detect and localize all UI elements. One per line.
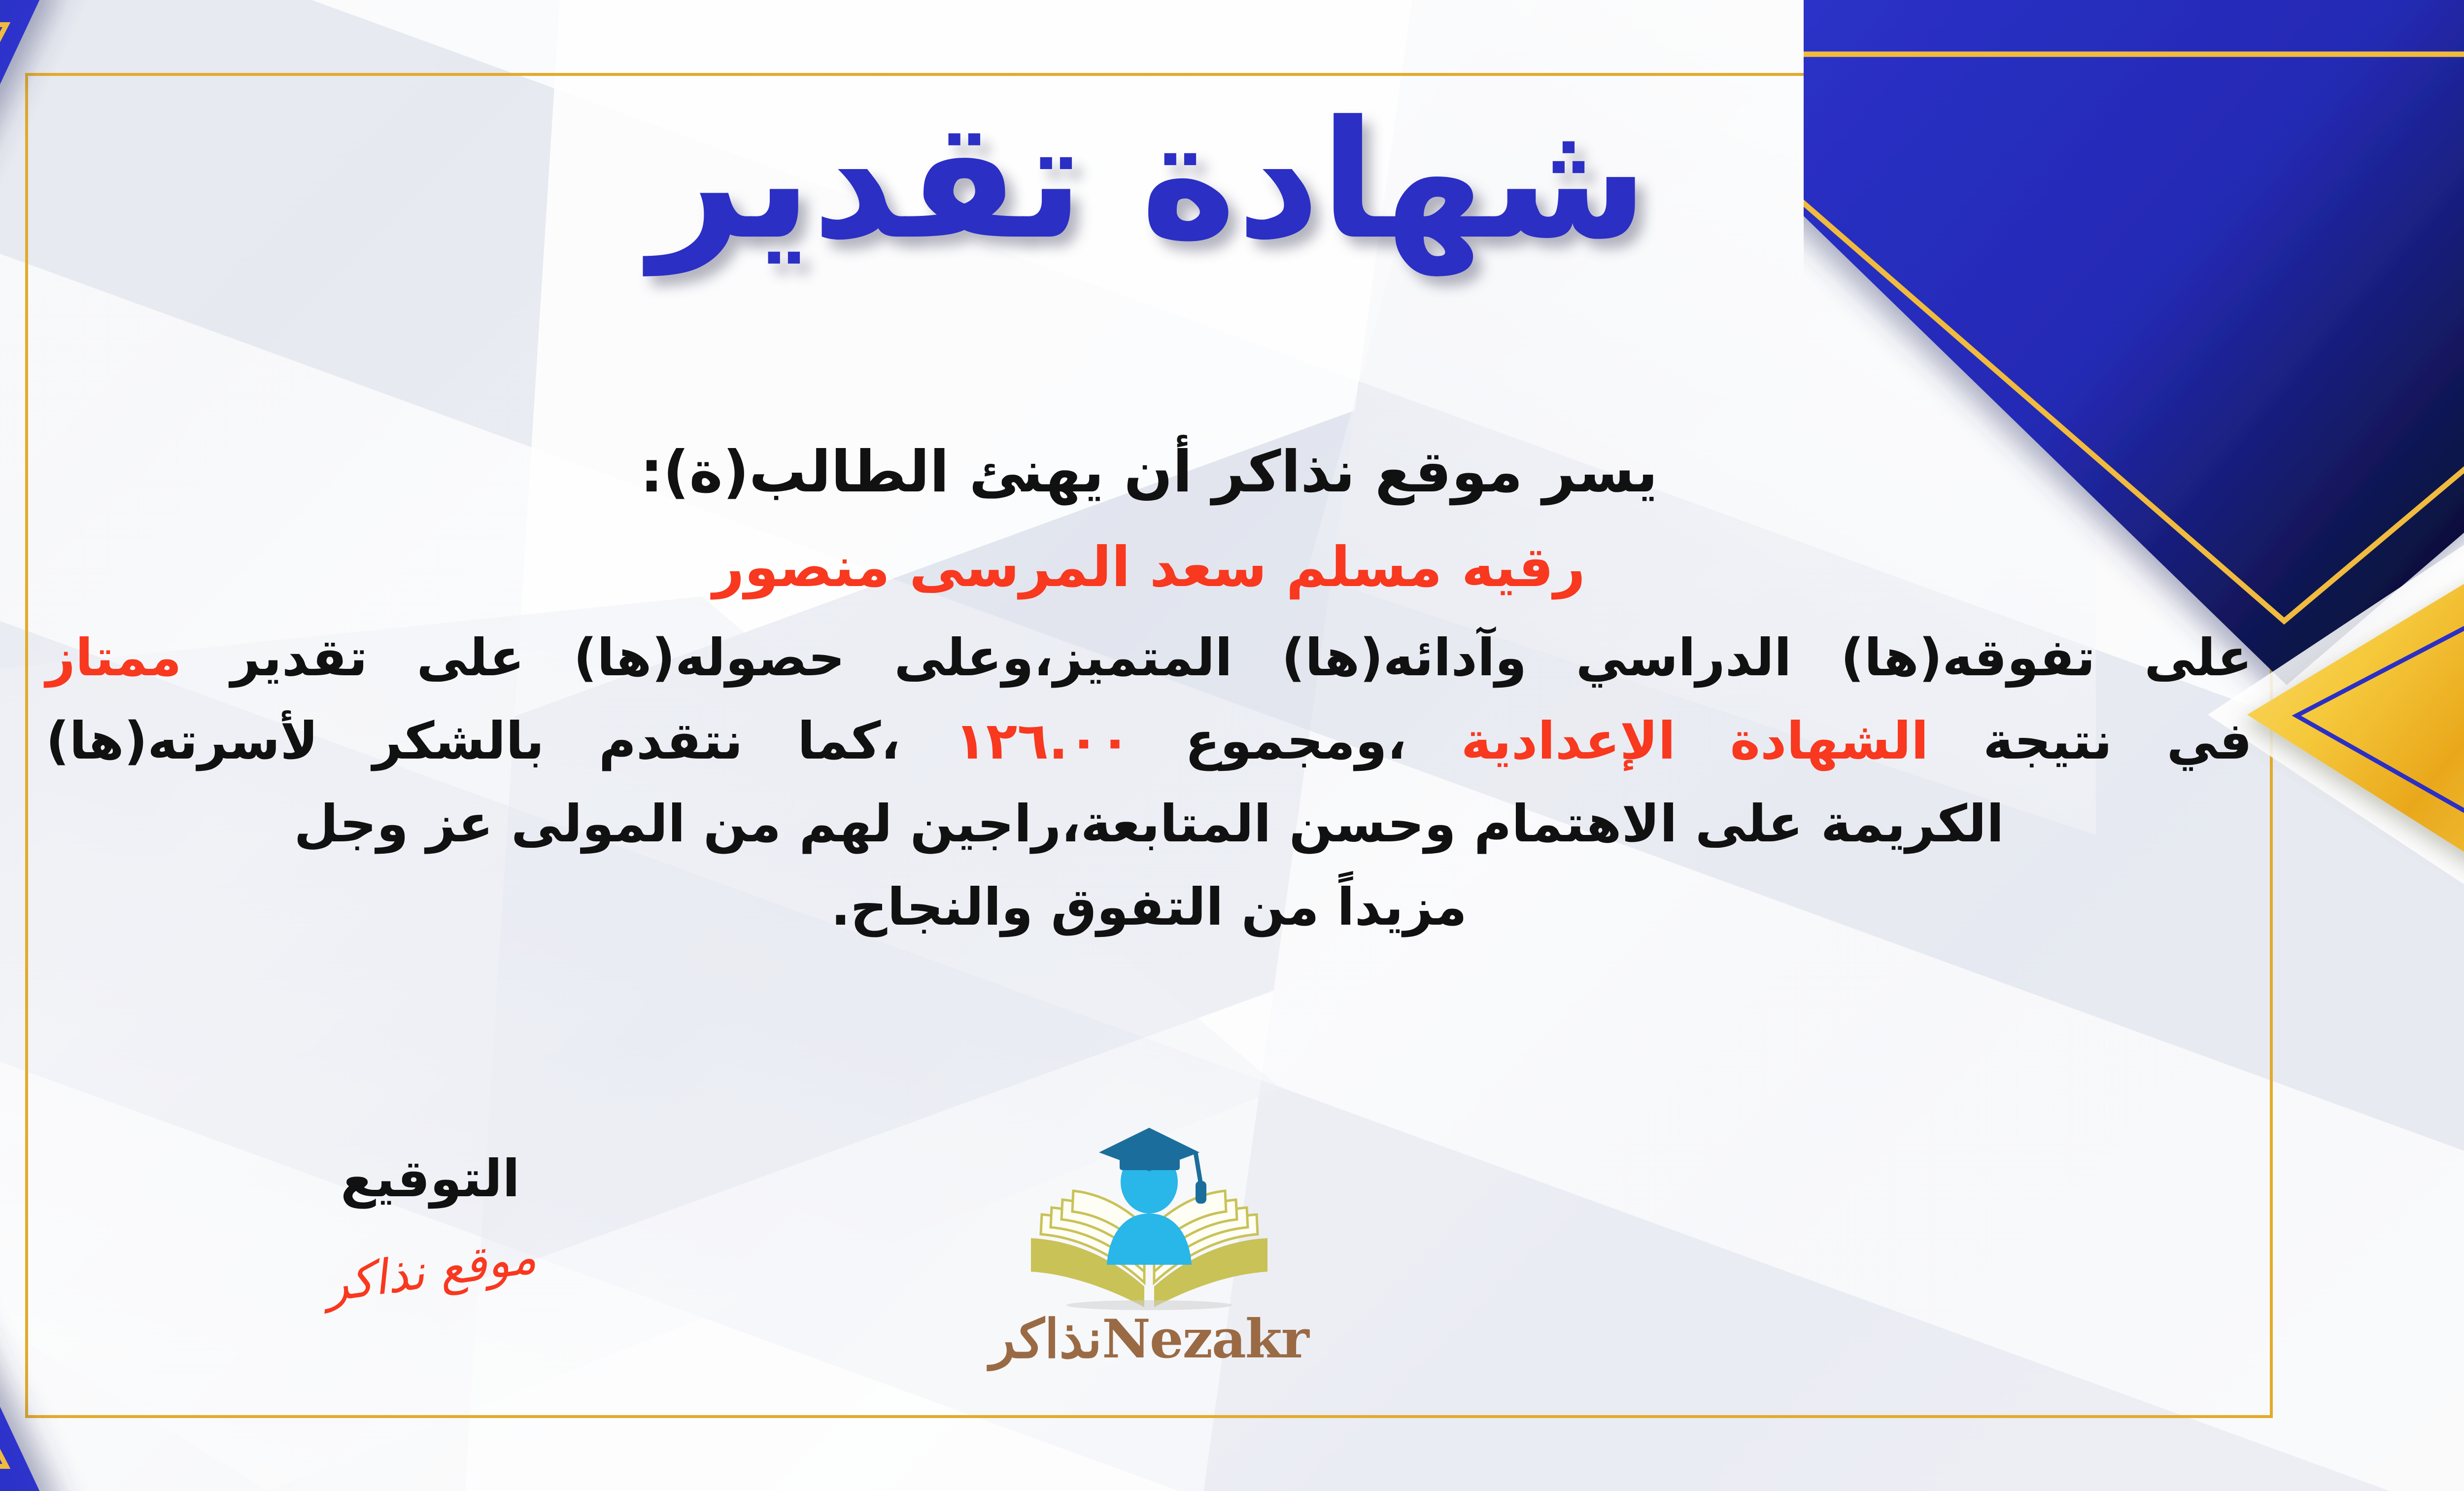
student-name: رقيه مسلم سعد المرسى منصور: [46, 535, 2252, 599]
signature-label: التوقيع: [258, 1148, 603, 1209]
grade-value: ممتاز: [46, 627, 182, 688]
signature-mark: موقع نذاكر: [321, 1229, 539, 1313]
certificate-title: شهادة تقدير: [0, 79, 2464, 282]
total-score: ١٢٦.٠٠: [955, 711, 1130, 771]
achievement-text-1: على تفوقه(ها) الدراسي وآدائه(ها) المتميز…: [231, 627, 2252, 688]
graduate-open-book-logo-icon: [996, 1124, 1302, 1311]
intro-line: يسر موقع نذاكر أن يهنئ الطالب(ة):: [46, 429, 2252, 516]
signature-block: التوقيع موقع نذاكر: [258, 1148, 603, 1298]
logo-wordmark-ar: نذاكر: [990, 1308, 1102, 1370]
logo-wordmark-en: Nezakr: [1102, 1308, 1308, 1370]
certificate-canvas: شهادة تقدير يسر موقع نذاكر أن يهنئ الطال…: [0, 0, 2464, 1491]
achievement-line-2: في نتيجة الشهادة الإعدادية ،ومجموع ١٢٦.٠…: [46, 699, 2252, 782]
achievement-text-3: ،ومجموع: [1185, 711, 1406, 771]
certificate-body: يسر موقع نذاكر أن يهنئ الطالب(ة): رقيه م…: [46, 429, 2252, 948]
brand-logo: Nezakrنذاكر: [962, 1124, 1336, 1370]
achievement-line-3: الكريمة على الاهتمام وحسن المتابعة،راجين…: [46, 782, 2252, 865]
logo-wordmark: Nezakrنذاكر: [962, 1308, 1336, 1370]
bottom-left-chevron-ornament: [0, 1008, 292, 1491]
achievement-text-4: ،كما نتقدم بالشكر لأسرته(ها): [46, 711, 900, 771]
achievement-text-2: في نتيجة: [1983, 711, 2252, 771]
exam-name: الشهادة الإعدادية: [1461, 711, 1929, 771]
achievement-line-4: مزيداً من التفوق والنجاح.: [46, 866, 2252, 948]
achievement-paragraph: على تفوقه(ها) الدراسي وآدائه(ها) المتميز…: [46, 616, 2252, 948]
achievement-line-1: على تفوقه(ها) الدراسي وآدائه(ها) المتميز…: [46, 616, 2252, 699]
